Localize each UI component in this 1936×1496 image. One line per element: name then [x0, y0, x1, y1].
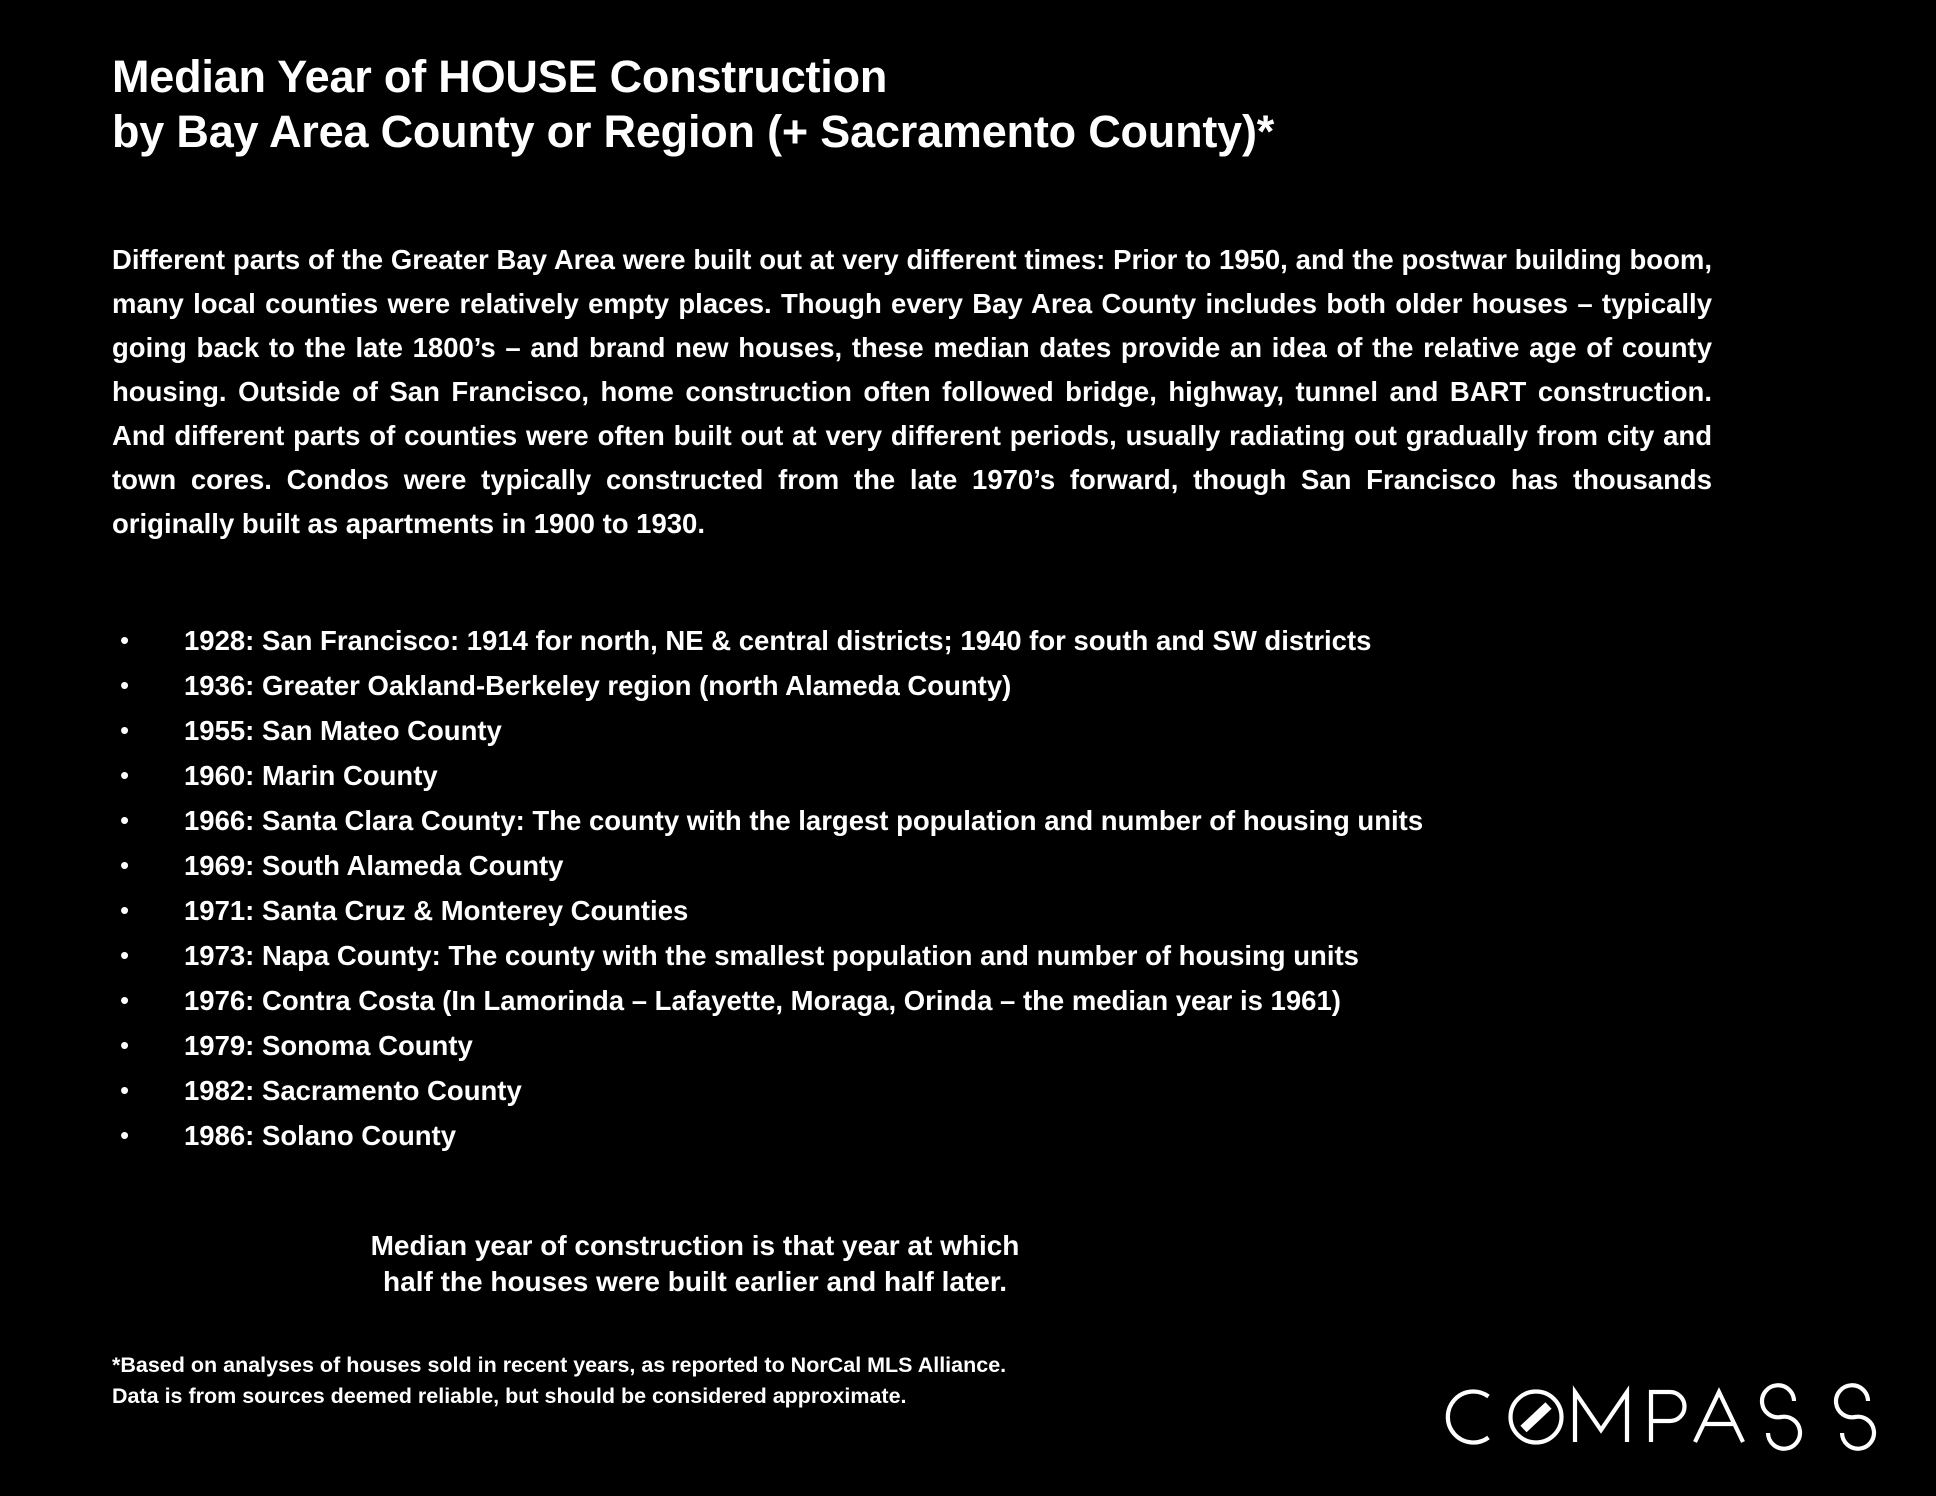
list-item: • 1969: South Alameda County	[112, 843, 1832, 888]
list-item-label: 1966: Santa Clara County: The county wit…	[184, 798, 1832, 843]
note-line-2: half the houses were built earlier and h…	[0, 1264, 1390, 1300]
list-item: • 1966: Santa Clara County: The county w…	[112, 798, 1832, 843]
list-item: • 1986: Solano County	[112, 1113, 1832, 1158]
title-line-2: by Bay Area County or Region (+ Sacramen…	[112, 105, 1812, 160]
list-item-label: 1979: Sonoma County	[184, 1023, 1832, 1068]
compass-logo	[1444, 1380, 1884, 1454]
list-item-label: 1976: Contra Costa (In Lamorinda – Lafay…	[184, 978, 1832, 1023]
bullet-marker-icon: •	[112, 933, 184, 978]
list-item-label: 1973: Napa County: The county with the s…	[184, 933, 1832, 978]
list-item: • 1973: Napa County: The county with the…	[112, 933, 1832, 978]
list-item: • 1979: Sonoma County	[112, 1023, 1832, 1068]
page-title: Median Year of HOUSE Construction by Bay…	[112, 50, 1812, 160]
list-item-label: 1969: South Alameda County	[184, 843, 1832, 888]
intro-paragraph: Different parts of the Greater Bay Area …	[112, 238, 1712, 546]
bullet-marker-icon: •	[112, 843, 184, 888]
bullet-marker-icon: •	[112, 1068, 184, 1113]
slide-root: Median Year of HOUSE Construction by Bay…	[0, 0, 1936, 1496]
bullet-marker-icon: •	[112, 618, 184, 663]
median-year-bullet-list: • 1928: San Francisco: 1914 for north, N…	[112, 618, 1832, 1158]
list-item: • 1955: San Mateo County	[112, 708, 1832, 753]
list-item-label: 1982: Sacramento County	[184, 1068, 1832, 1113]
note-line-1: Median year of construction is that year…	[0, 1228, 1390, 1264]
footnote-line-1: *Based on analyses of houses sold in rec…	[112, 1350, 1312, 1381]
bullet-marker-icon: •	[112, 753, 184, 798]
list-item: • 1982: Sacramento County	[112, 1068, 1832, 1113]
list-item: • 1928: San Francisco: 1914 for north, N…	[112, 618, 1832, 663]
list-item-label: 1960: Marin County	[184, 753, 1832, 798]
list-item: • 1976: Contra Costa (In Lamorinda – Laf…	[112, 978, 1832, 1023]
bullet-marker-icon: •	[112, 978, 184, 1023]
list-item-label: 1936: Greater Oakland-Berkeley region (n…	[184, 663, 1832, 708]
footnote-line-2: Data is from sources deemed reliable, bu…	[112, 1381, 1312, 1412]
bullet-marker-icon: •	[112, 798, 184, 843]
list-item-label: 1971: Santa Cruz & Monterey Counties	[184, 888, 1832, 933]
list-item: • 1936: Greater Oakland-Berkeley region …	[112, 663, 1832, 708]
bullet-marker-icon: •	[112, 708, 184, 753]
source-footnote: *Based on analyses of houses sold in rec…	[112, 1350, 1312, 1412]
bullet-marker-icon: •	[112, 888, 184, 933]
bullet-marker-icon: •	[112, 1113, 184, 1158]
list-item: • 1960: Marin County	[112, 753, 1832, 798]
bullet-marker-icon: •	[112, 663, 184, 708]
title-line-1: Median Year of HOUSE Construction	[112, 50, 1812, 105]
median-definition-note: Median year of construction is that year…	[0, 1228, 1390, 1301]
list-item-label: 1928: San Francisco: 1914 for north, NE …	[184, 618, 1832, 663]
list-item: • 1971: Santa Cruz & Monterey Counties	[112, 888, 1832, 933]
bullet-marker-icon: •	[112, 1023, 184, 1068]
list-item-label: 1986: Solano County	[184, 1113, 1832, 1158]
list-item-label: 1955: San Mateo County	[184, 708, 1832, 753]
